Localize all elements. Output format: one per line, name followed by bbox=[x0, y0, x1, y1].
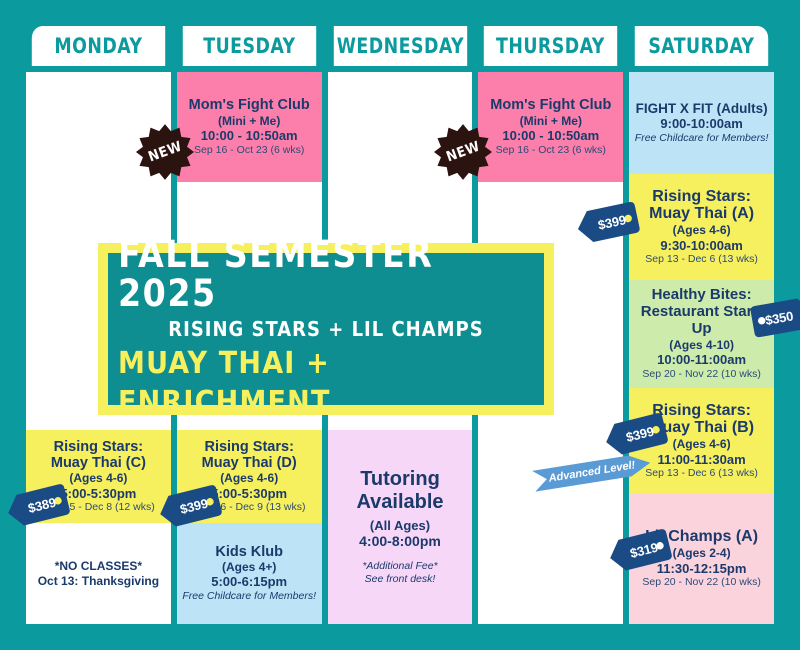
class-time: 5:00-5:30pm bbox=[60, 486, 136, 502]
class-title-line2: Muay Thai (A) bbox=[649, 205, 754, 223]
day-header-saturday: SATURDAY bbox=[635, 26, 768, 66]
class-card-tutoring[interactable]: Tutoring Available (All Ages) 4:00-8:00p… bbox=[328, 430, 473, 624]
class-ages: (Ages 4-6) bbox=[673, 437, 731, 451]
class-dates: Sep 13 - Dec 6 (13 wks) bbox=[645, 253, 758, 266]
class-title-line1: Rising Stars: bbox=[652, 402, 751, 420]
banner-inner: FALL SEMESTER 2025 RISING STARS + LIL CH… bbox=[108, 253, 544, 405]
banner-title: FALL SEMESTER 2025 bbox=[118, 236, 534, 314]
class-title: Kids Klub bbox=[215, 544, 283, 560]
class-ages: (All Ages) bbox=[370, 518, 430, 534]
banner-tagline: MUAY THAI + ENRICHMENT bbox=[118, 344, 534, 422]
class-time: 11:00-11:30am bbox=[658, 452, 746, 468]
class-title-line1: Tutoring bbox=[360, 468, 440, 492]
class-dates: Sep 20 - Nov 22 (10 wks) bbox=[642, 368, 760, 381]
note-card-no-classes: *NO CLASSES* Oct 13: Thanksgiving bbox=[26, 523, 171, 624]
class-dates: Sep 16 - Oct 23 (6 wks) bbox=[496, 144, 606, 157]
class-time: 10:00-11:00am bbox=[657, 352, 746, 368]
new-badge-thursday: NEW bbox=[434, 123, 492, 181]
class-title-line2: Available bbox=[356, 491, 443, 515]
class-ages: (Ages 4+) bbox=[222, 560, 276, 574]
no-classes-label: *NO CLASSES* bbox=[55, 559, 142, 573]
day-header-tuesday: TUESDAY bbox=[183, 26, 316, 66]
fall-semester-banner: FALL SEMESTER 2025 RISING STARS + LIL CH… bbox=[98, 243, 554, 415]
class-ages: (Ages 4-6) bbox=[69, 471, 127, 485]
class-time: 4:00-8:00pm bbox=[359, 533, 441, 550]
class-time: 5:00-6:15pm bbox=[211, 574, 287, 590]
class-dates: Sep 20 - Nov 22 (10 wks) bbox=[642, 576, 760, 589]
day-header-monday: MONDAY bbox=[32, 26, 165, 66]
class-title-line1: Rising Stars: bbox=[204, 439, 293, 455]
class-time: 5:00-5:30pm bbox=[211, 486, 287, 502]
class-title-line2: Muay Thai (D) bbox=[202, 455, 297, 471]
class-time: 10:00 - 10:50am bbox=[502, 128, 599, 144]
class-card-healthy-bites[interactable]: Healthy Bites: Restaurant Start-Up (Ages… bbox=[629, 280, 774, 388]
class-title: FIGHT X FIT (Adults) bbox=[636, 101, 768, 116]
class-title-line2: Restaurant Start-Up bbox=[634, 304, 769, 338]
no-classes-date: Oct 13: Thanksgiving bbox=[38, 574, 159, 588]
class-ages: (Ages 4-6) bbox=[673, 223, 731, 237]
class-time: 9:30-10:00am bbox=[660, 238, 742, 254]
class-time: 9:00-10:00am bbox=[660, 116, 742, 132]
class-title-line1: Rising Stars: bbox=[652, 188, 751, 206]
class-title: Mom's Fight Club bbox=[490, 97, 611, 113]
class-note-line1: *Additional Fee* bbox=[362, 560, 437, 573]
class-time: 11:30-12:15pm bbox=[657, 561, 747, 577]
class-card-moms-fight-club-thursday[interactable]: Mom's Fight Club (Mini + Me) 10:00 - 10:… bbox=[478, 72, 623, 182]
class-note: Free Childcare for Members! bbox=[182, 590, 316, 603]
class-title-line2: Muay Thai (C) bbox=[51, 455, 146, 471]
class-subtitle: (Mini + Me) bbox=[218, 114, 280, 128]
class-card-kids-klub[interactable]: Kids Klub (Ages 4+) 5:00-6:15pm Free Chi… bbox=[177, 523, 322, 624]
banner-subtitle: RISING STARS + LIL CHAMPS bbox=[168, 314, 483, 344]
class-title-line1: Healthy Bites: bbox=[652, 287, 752, 304]
class-subtitle: (Mini + Me) bbox=[520, 114, 582, 128]
day-header-thursday: THURSDAY bbox=[484, 26, 617, 66]
class-time: 10:00 - 10:50am bbox=[201, 128, 298, 144]
class-note: Free Childcare for Members! bbox=[635, 132, 769, 145]
class-ages: (Ages 4-10) bbox=[669, 338, 734, 352]
class-title: Mom's Fight Club bbox=[189, 97, 310, 113]
class-card-fight-x-fit[interactable]: FIGHT X FIT (Adults) 9:00-10:00am Free C… bbox=[629, 72, 774, 174]
class-title-line1: Rising Stars: bbox=[54, 439, 143, 455]
class-ages: (Ages 2-4) bbox=[673, 546, 731, 560]
class-dates: Sep 13 - Dec 6 (13 wks) bbox=[645, 467, 758, 480]
class-dates: Sep 16 - Oct 23 (6 wks) bbox=[194, 144, 304, 157]
class-card-rising-stars-a[interactable]: Rising Stars: Muay Thai (A) (Ages 4-6) 9… bbox=[629, 174, 774, 280]
class-note-line2: See front desk! bbox=[365, 573, 436, 586]
schedule-sheet: MONDAY Rising Stars: Muay Thai (C) (Ages… bbox=[26, 26, 774, 624]
day-header-wednesday: WEDNESDAY bbox=[333, 26, 466, 66]
class-card-moms-fight-club-tuesday[interactable]: Mom's Fight Club (Mini + Me) 10:00 - 10:… bbox=[177, 72, 322, 182]
new-badge-tuesday: NEW bbox=[136, 123, 194, 181]
class-ages: (Ages 4-6) bbox=[220, 471, 278, 485]
